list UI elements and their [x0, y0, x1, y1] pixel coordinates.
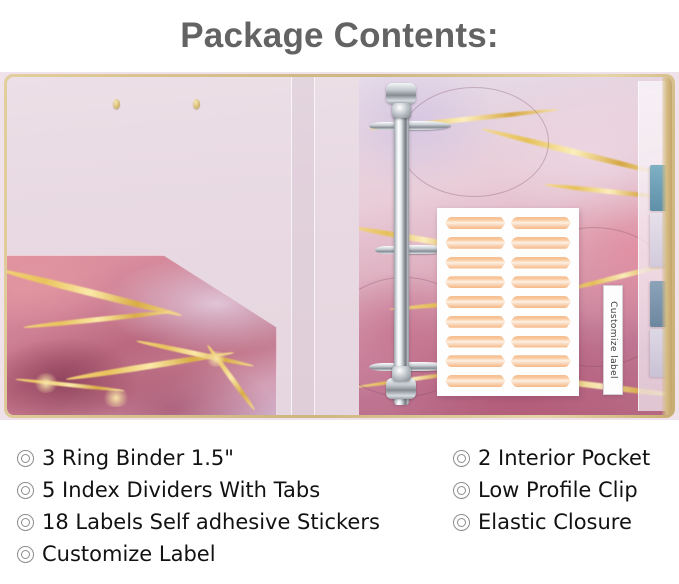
rivet-icon	[113, 99, 120, 109]
list-item: Customize Label	[17, 538, 425, 570]
label-sticker	[511, 217, 572, 229]
ring-arc-left	[369, 122, 395, 130]
double-circle-bullet-icon	[17, 450, 34, 467]
list-item-label: Elastic Closure	[478, 512, 632, 533]
list-item: 2 Interior Pocket	[453, 442, 679, 474]
sticker-row	[445, 217, 571, 229]
sticker-row	[445, 237, 571, 249]
label-sticker	[445, 257, 506, 269]
list-item-label: 2 Interior Pocket	[478, 448, 650, 469]
marble-wisp	[399, 87, 549, 197]
list-item-label: 5 Index Dividers With Tabs	[42, 480, 320, 501]
label-sticker-sheet	[437, 208, 579, 396]
list-item: Elastic Closure	[453, 506, 679, 538]
ring-mechanism-rail	[394, 89, 409, 405]
binder-right-edge	[662, 77, 672, 415]
page-title: Package Contents:	[180, 18, 499, 53]
pocket-edge	[7, 255, 277, 415]
label-sticker	[511, 316, 572, 328]
label-sticker	[511, 375, 572, 387]
label-sticker	[511, 336, 572, 348]
label-sticker	[445, 355, 506, 367]
customize-label-text: Customize label	[608, 301, 618, 379]
double-circle-bullet-icon	[17, 482, 34, 499]
ring-lever-bottom[interactable]	[386, 378, 416, 399]
double-circle-bullet-icon	[453, 482, 470, 499]
ring-rivet-bottom	[392, 366, 411, 381]
label-sticker	[445, 316, 506, 328]
label-sticker	[445, 237, 506, 249]
spine-crease	[314, 77, 315, 415]
label-sticker	[511, 276, 572, 288]
label-sticker	[511, 296, 572, 308]
double-circle-bullet-icon	[453, 514, 470, 531]
list-item-label: Customize Label	[42, 544, 216, 565]
contents-column-left: 3 Ring Binder 1.5" 5 Index Dividers With…	[0, 432, 425, 584]
left-inside-cover	[7, 77, 359, 415]
list-item: Low Profile Clip	[453, 474, 679, 506]
package-contents-list: 3 Ring Binder 1.5" 5 Index Dividers With…	[0, 432, 679, 584]
spine-shadow	[292, 77, 314, 415]
label-sticker	[511, 257, 572, 269]
list-item-label: 18 Labels Self adhesive Stickers	[42, 512, 380, 533]
sticker-row	[445, 296, 571, 308]
double-circle-bullet-icon	[453, 450, 470, 467]
sticker-row	[445, 336, 571, 348]
ring-rivet-top	[392, 103, 411, 118]
list-item-label: 3 Ring Binder 1.5"	[42, 448, 234, 469]
interior-pocket	[7, 255, 277, 415]
ring-lever-top[interactable]	[386, 83, 416, 104]
list-item: 5 Index Dividers With Tabs	[17, 474, 425, 506]
sticker-row	[445, 276, 571, 288]
list-item: 3 Ring Binder 1.5"	[17, 442, 425, 474]
label-sticker	[445, 276, 506, 288]
list-item-label: Low Profile Clip	[478, 480, 638, 501]
label-sticker	[445, 375, 506, 387]
rivet-icon	[193, 99, 200, 109]
binder-interior: Customize label	[7, 77, 672, 415]
product-photo: Customize label	[0, 72, 679, 420]
sticker-row	[445, 375, 571, 387]
page-title-bar: Package Contents:	[0, 0, 679, 70]
list-item: 18 Labels Self adhesive Stickers	[17, 506, 425, 538]
sticker-row	[445, 257, 571, 269]
label-sticker	[511, 237, 572, 249]
sticker-row	[445, 355, 571, 367]
spine-crease	[291, 77, 292, 415]
sticker-row	[445, 316, 571, 328]
label-sticker	[511, 355, 572, 367]
ring-arc-left	[375, 246, 395, 254]
double-circle-bullet-icon	[17, 546, 34, 563]
contents-column-right: 2 Interior Pocket Low Profile Clip Elast…	[425, 432, 679, 584]
label-sticker	[445, 296, 506, 308]
customize-label-tag: Customize label	[603, 285, 623, 395]
binder-gold-trim: Customize label	[4, 74, 675, 418]
label-sticker	[445, 336, 506, 348]
double-circle-bullet-icon	[17, 514, 34, 531]
label-sticker	[445, 217, 506, 229]
